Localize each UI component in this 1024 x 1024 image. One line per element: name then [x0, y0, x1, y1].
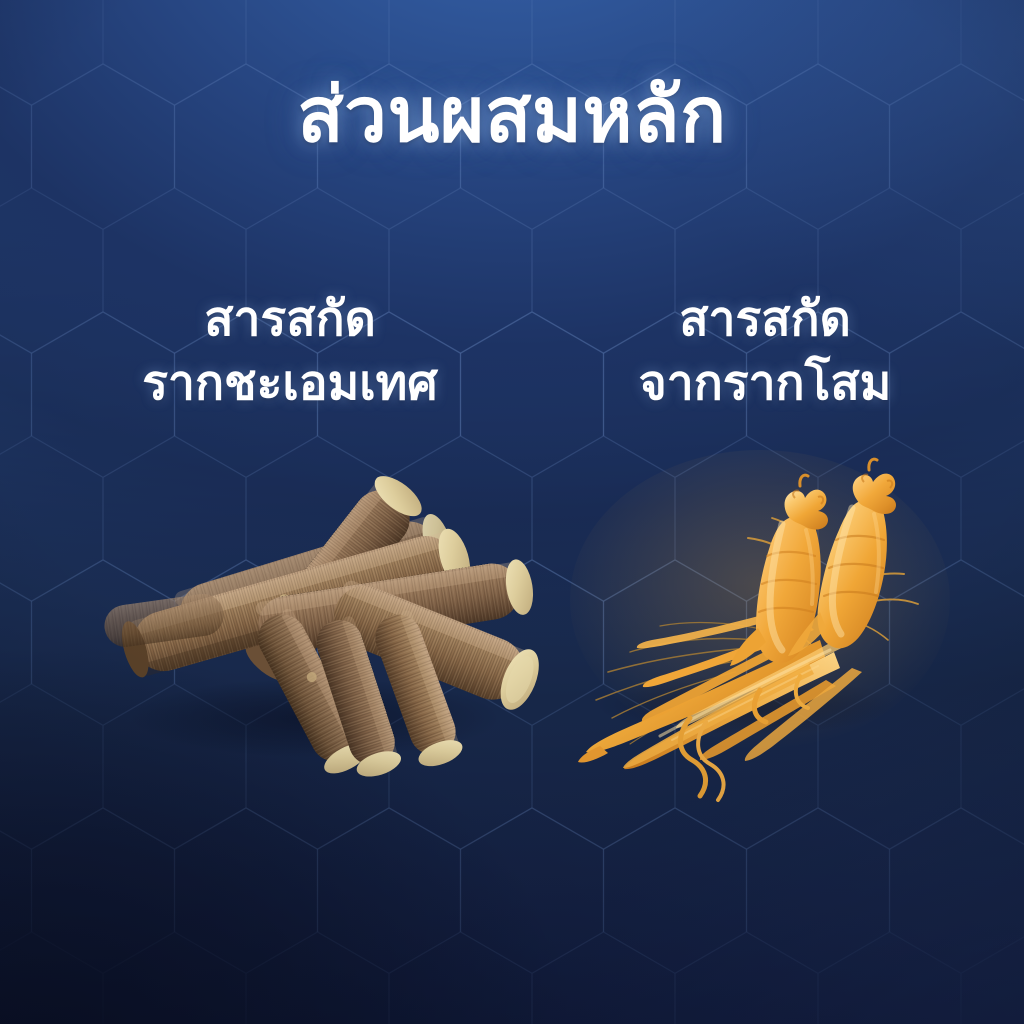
- licorice-label-line2: รากชะเอมเทศ: [80, 352, 500, 416]
- ingredient-label-ginseng: สารสกัด จากรากโสม: [555, 288, 975, 416]
- ingredients-banner: ส่วนผสมหลัก สารสกัด รากชะเอมเทศ สารสกัด …: [0, 0, 1024, 1024]
- page-title: ส่วนผสมหลัก: [0, 78, 1024, 154]
- ingredient-labels: สารสกัด รากชะเอมเทศ สารสกัด จากรากโสม: [0, 288, 1024, 428]
- ingredient-label-licorice: สารสกัด รากชะเอมเทศ: [80, 288, 500, 416]
- ginseng-label-line1: สารสกัด: [679, 293, 851, 346]
- licorice-label-line1: สารสกัด: [204, 293, 376, 346]
- ginseng-label-line2: จากรากโสม: [555, 352, 975, 416]
